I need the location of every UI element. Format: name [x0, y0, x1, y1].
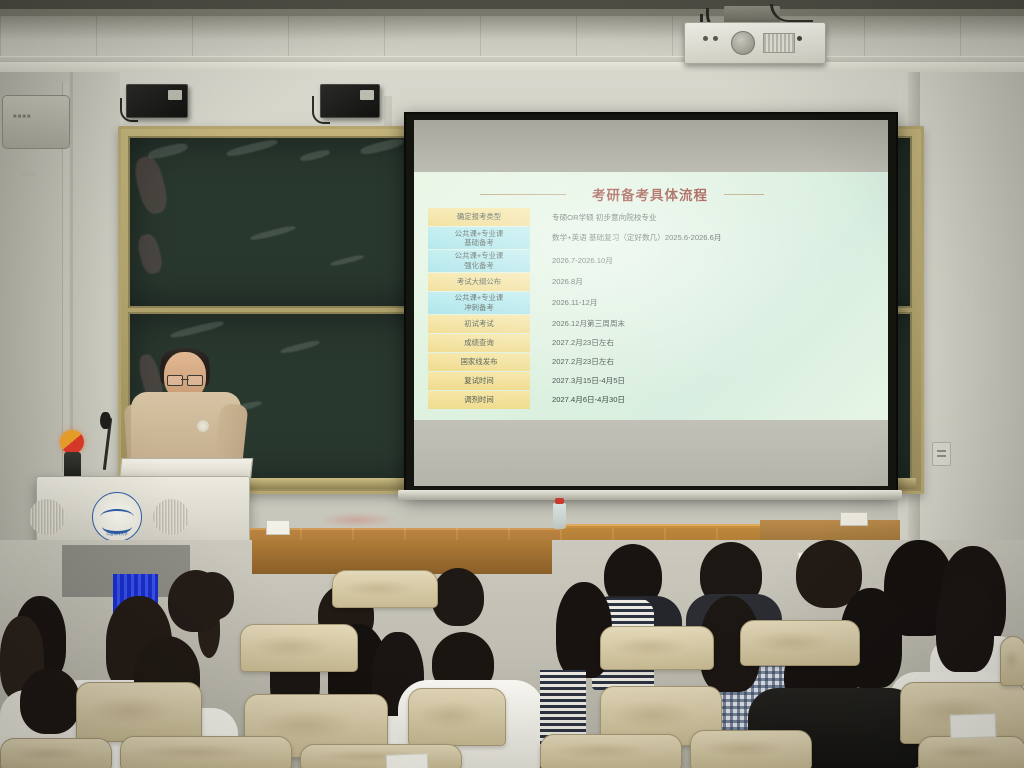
water-bottle: [553, 503, 566, 529]
shirt-logo: [197, 420, 209, 432]
side-desk-item: [840, 512, 868, 526]
projector-glare: [414, 172, 888, 420]
student-head: [936, 574, 994, 672]
lecture-chair[interactable]: [76, 682, 202, 742]
classroom-photo: ■■■■: [0, 0, 1024, 768]
projection-screen: 考研备考具体流程 确定报考类型 专硕OR学硕 初步意向院校专业 公共课+专业课 …: [404, 112, 898, 494]
presentation-slide: 考研备考具体流程 确定报考类型 专硕OR学硕 初步意向院校专业 公共课+专业课 …: [414, 172, 888, 420]
projector-vent: [763, 33, 795, 53]
projector-indicator-led: [797, 36, 802, 41]
wall-speaker: [126, 84, 188, 118]
chalk-box: [266, 520, 290, 535]
glasses-lens-left: [167, 375, 183, 386]
desk-paper: [386, 753, 429, 768]
screen-letterbox-top: [414, 120, 888, 172]
wall-speaker: [320, 84, 380, 118]
wood-panel: [252, 540, 552, 574]
audience-area: Valieaho SnowFUCKIN'Day STA: [0, 540, 1024, 768]
lecture-chair[interactable]: [540, 734, 682, 768]
lecture-chair[interactable]: [600, 626, 714, 670]
emblem-text: 中国海洋大学: [104, 532, 130, 537]
wall-marking: [20, 172, 36, 176]
bottle-cap: [555, 498, 564, 504]
speaker-glare: [360, 90, 374, 100]
projector-indicator-led: [703, 36, 708, 41]
lectern-grille: [153, 499, 189, 535]
ceiling-projector: [684, 22, 826, 64]
power-outlet[interactable]: [932, 442, 951, 466]
lecture-chair[interactable]: [120, 736, 292, 768]
wall-sign-text: ■■■■: [13, 114, 32, 120]
student-head: [168, 570, 224, 632]
lecture-chair[interactable]: [300, 744, 462, 768]
projector-lens-icon: [731, 31, 755, 55]
lecture-chair[interactable]: [918, 736, 1024, 768]
screen-bottom-bar: [398, 490, 902, 500]
lecture-chair[interactable]: [240, 624, 358, 672]
lecture-chair[interactable]: [0, 738, 112, 768]
ceiling-beam-light: [0, 9, 1024, 16]
microphone-icon: [100, 412, 111, 429]
university-emblem: 中国海洋大学: [92, 492, 142, 542]
glasses-icon: [167, 375, 203, 384]
screen-surface: 考研备考具体流程 确定报考类型 专硕OR学硕 初步意向院校专业 公共课+专业课 …: [414, 120, 888, 486]
signal-lamp-icon: [60, 430, 84, 454]
lecture-chair[interactable]: [408, 688, 506, 746]
lecture-chair[interactable]: [332, 570, 438, 608]
lecture-chair[interactable]: [690, 730, 812, 768]
screen-letterbox-bottom: [414, 420, 888, 486]
projector-indicator-led: [713, 36, 718, 41]
lectern-grille: [29, 499, 65, 535]
speaker-glare: [168, 90, 182, 100]
desk-paper: [950, 713, 997, 739]
lecture-chair[interactable]: [740, 620, 860, 666]
student-head: [432, 568, 484, 626]
lecture-chair[interactable]: [1000, 636, 1024, 686]
student-head: [20, 668, 80, 734]
wall-smudge: [318, 512, 396, 528]
glasses-lens-right: [187, 375, 203, 386]
wall-sign-box: ■■■■: [2, 95, 70, 149]
ceiling-beam-dark: [0, 0, 1024, 9]
